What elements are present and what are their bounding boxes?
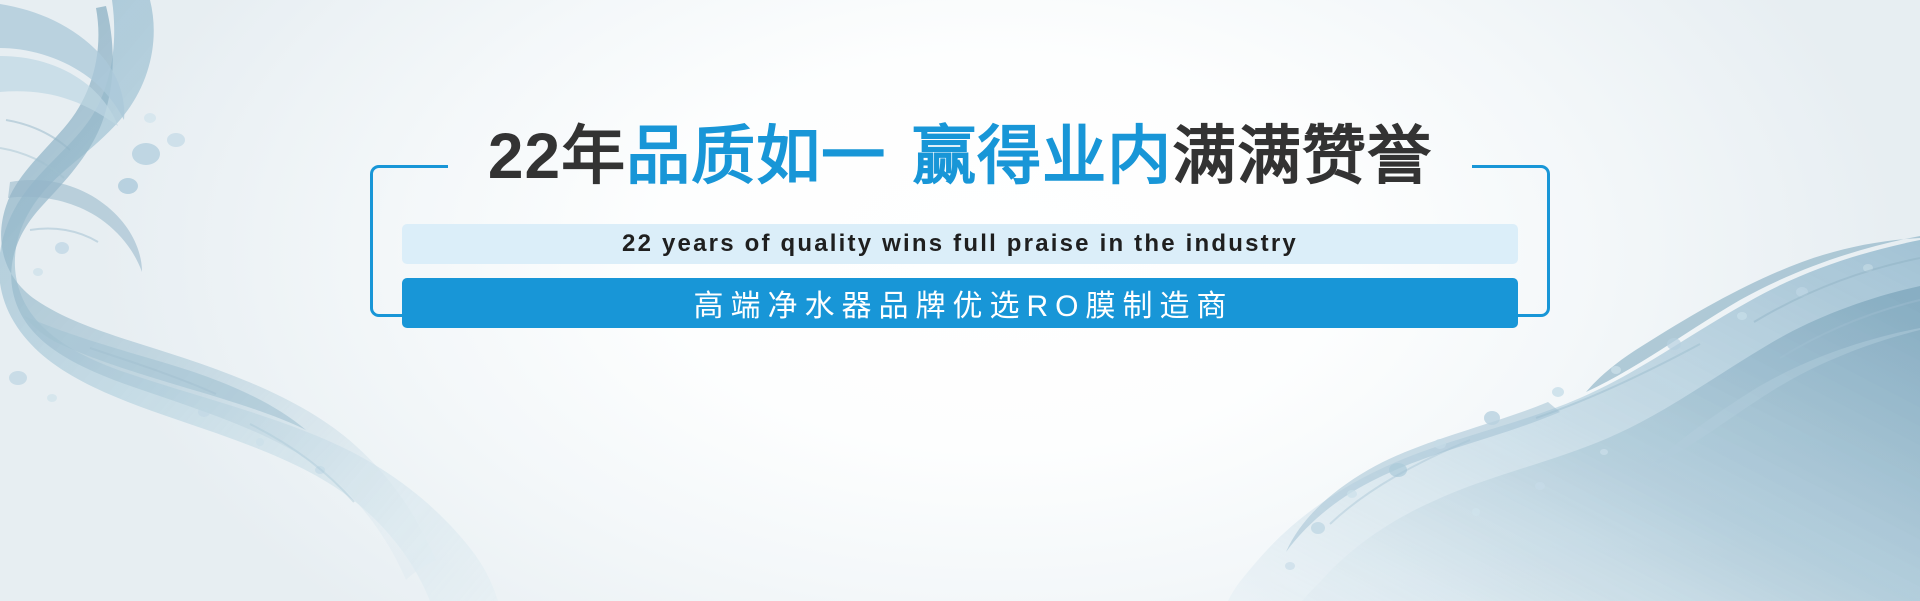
chinese-tagline-strip: 高端净水器品牌优选RO膜制造商: [402, 278, 1518, 328]
headline-part-praise: 满满赞誉: [1172, 120, 1432, 192]
headline-part-win: 赢得业内: [912, 120, 1172, 192]
banner-headline: 22年品质如一赢得业内满满赞誉: [360, 120, 1560, 192]
chinese-tagline-text: 高端净水器品牌优选RO膜制造商: [687, 281, 1234, 325]
english-subtitle-text: 22 years of quality wins full praise in …: [622, 230, 1298, 258]
headline-part-years: 22年: [488, 120, 626, 192]
headline-part-quality: 品质如一: [626, 120, 886, 192]
english-subtitle-strip: 22 years of quality wins full praise in …: [402, 224, 1518, 264]
banner-content: 22年品质如一赢得业内满满赞誉 22 years of quality wins…: [360, 120, 1560, 330]
hero-banner: 22年品质如一赢得业内满满赞誉 22 years of quality wins…: [0, 0, 1920, 601]
